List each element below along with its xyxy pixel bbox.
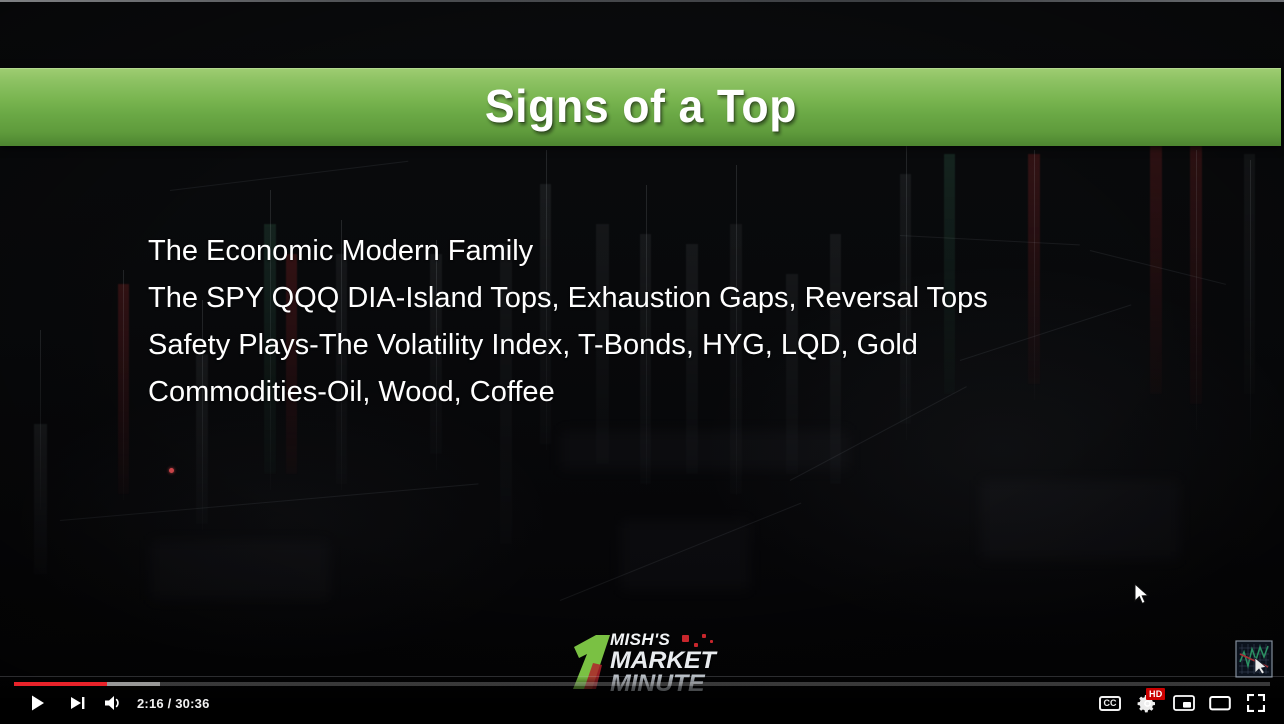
slide-line-4: Commodities-Oil, Wood, Coffee xyxy=(148,369,1148,416)
volume-button[interactable] xyxy=(101,690,129,716)
cc-icon: CC xyxy=(1099,696,1121,711)
background-marker-dot xyxy=(169,468,174,473)
control-bar-top-divider xyxy=(0,676,1284,677)
theater-button[interactable] xyxy=(1206,690,1234,716)
slide-line-2: The SPY QQQ DIA-Island Tops, Exhaustion … xyxy=(148,275,1148,322)
player-control-bar[interactable]: 2:16 / 30:36 CC HD xyxy=(0,676,1284,724)
theater-icon xyxy=(1209,694,1231,712)
play-button[interactable] xyxy=(25,690,51,716)
video-player[interactable]: Signs of a Top The Economic Modern Famil… xyxy=(0,0,1284,724)
miniplayer-icon xyxy=(1173,694,1195,712)
slide-body-text: The Economic Modern Family The SPY QQQ D… xyxy=(148,228,1148,416)
volume-icon xyxy=(104,694,126,712)
hd-quality-badge: HD xyxy=(1146,688,1165,700)
slide-title-banner: Signs of a Top xyxy=(0,68,1281,146)
next-button[interactable] xyxy=(65,690,91,716)
channel-watermark-icon[interactable] xyxy=(1235,640,1273,678)
mouse-cursor xyxy=(1134,583,1152,607)
slide-line-1: The Economic Modern Family xyxy=(148,228,1148,275)
fullscreen-button[interactable] xyxy=(1242,690,1270,716)
top-edge-highlight xyxy=(0,0,1284,2)
next-track-icon xyxy=(69,694,87,712)
control-button-row: 2:16 / 30:36 CC HD xyxy=(0,684,1284,724)
miniplayer-button[interactable] xyxy=(1170,690,1198,716)
page-title: Signs of a Top xyxy=(484,79,796,135)
time-display: 2:16 / 30:36 xyxy=(137,696,210,711)
slide-line-3: Safety Plays-The Volatility Index, T-Bon… xyxy=(148,322,1148,369)
captions-button[interactable]: CC xyxy=(1096,690,1124,716)
fullscreen-icon xyxy=(1246,693,1266,713)
play-icon xyxy=(29,694,47,712)
